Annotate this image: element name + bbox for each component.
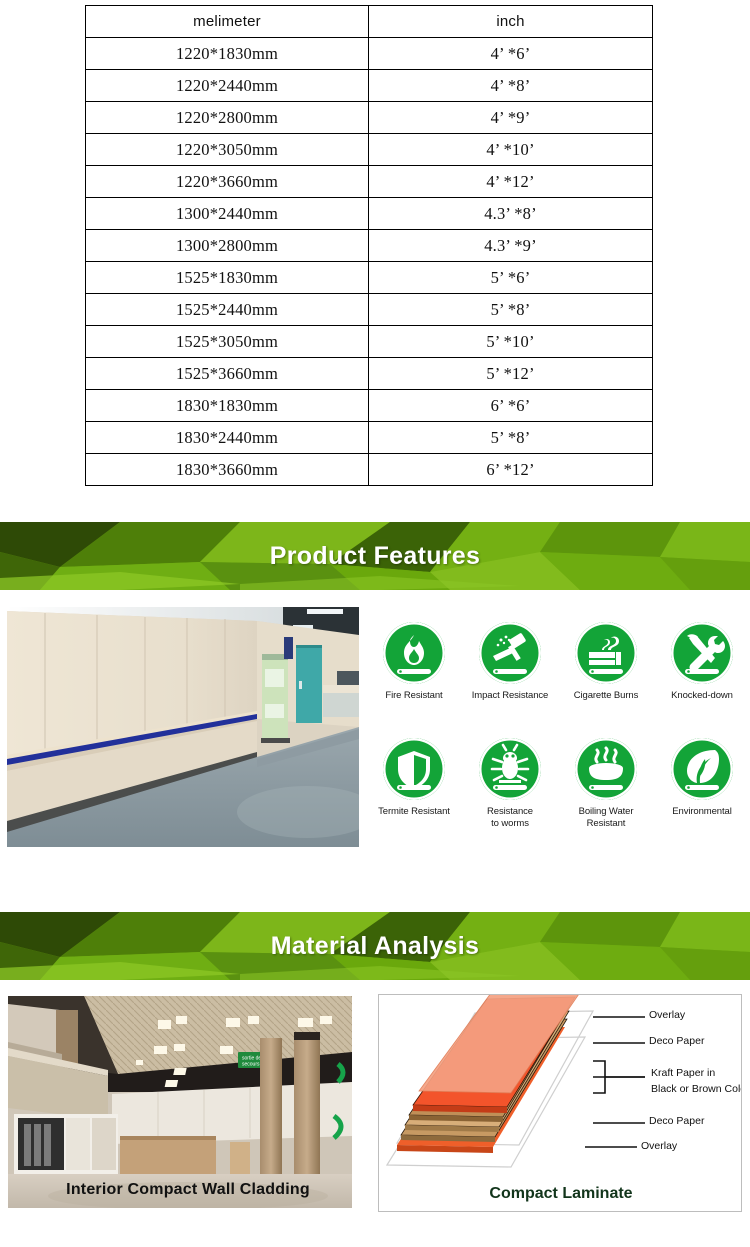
table-row: 1830*3660mm6’ *12’ (86, 454, 653, 486)
cell-melimeter: 1830*3660mm (86, 454, 369, 486)
feature-item-boiling-pot[interactable]: Boiling WaterResistant (558, 738, 654, 829)
table-row: 1525*1830mm5’ *6’ (86, 262, 653, 294)
compact-laminate-panel: Overlay Deco Paper Kraft Paper in Black … (378, 994, 742, 1212)
cell-inch: 5’ *8’ (369, 422, 653, 454)
cigarette-icon (575, 622, 637, 684)
table-header-row: melimeterinch (86, 6, 653, 38)
feature-label-line: Fire Resistant (366, 690, 462, 702)
feature-caption: Environmental (654, 806, 750, 818)
feature-caption: Resistanceto worms (462, 806, 558, 829)
feature-item-bug[interactable]: Resistanceto worms (462, 738, 558, 829)
cell-inch: 4’ *9’ (369, 102, 653, 134)
cell-inch: 4.3’ *8’ (369, 198, 653, 230)
product-features-banner: Product Features (0, 522, 750, 590)
hammer-impact-icon (479, 622, 541, 684)
table-row: 1220*3050mm4’ *10’ (86, 134, 653, 166)
feature-caption: Termite Resistant (366, 806, 462, 818)
feature-label-line: Cigarette Burns (558, 690, 654, 702)
laminate-caption: Compact Laminate (379, 1185, 742, 1203)
cell-melimeter: 1220*2440mm (86, 70, 369, 102)
corridor-photo (7, 607, 359, 847)
column-header-inch: inch (369, 6, 653, 38)
layer-label-overlay-top: Overlay (649, 1009, 685, 1022)
cell-inch: 4’ *10’ (369, 134, 653, 166)
cell-melimeter: 1220*1830mm (86, 38, 369, 70)
cell-melimeter: 1220*3050mm (86, 134, 369, 166)
cell-inch: 4’ *6’ (369, 38, 653, 70)
cell-melimeter: 1300*2800mm (86, 230, 369, 262)
cell-inch: 5’ *10’ (369, 326, 653, 358)
feature-item-hammer-impact[interactable]: Impact Resistance (462, 622, 558, 702)
table-row: 1220*3660mm4’ *12’ (86, 166, 653, 198)
table-row: 1220*1830mm4’ *6’ (86, 38, 653, 70)
feature-caption: Cigarette Burns (558, 690, 654, 702)
product-features-section: Fire ResistantImpact ResistanceCigarette… (0, 600, 750, 872)
product-detail-page: melimeterinch1220*1830mm4’ *6’1220*2440m… (0, 0, 750, 1247)
feature-item-flame[interactable]: Fire Resistant (366, 622, 462, 702)
table-row: 1830*2440mm5’ *8’ (86, 422, 653, 454)
size-specification-table: melimeterinch1220*1830mm4’ *6’1220*2440m… (85, 5, 652, 486)
feature-label-line: Impact Resistance (462, 690, 558, 702)
feature-caption: Knocked-down (654, 690, 750, 702)
table-row: 1830*1830mm6’ *6’ (86, 390, 653, 422)
bug-icon (479, 738, 541, 800)
hammer-wrench-icon (671, 622, 733, 684)
cell-inch: 5’ *8’ (369, 294, 653, 326)
feature-caption: Boiling WaterResistant (558, 806, 654, 829)
cell-inch: 5’ *6’ (369, 262, 653, 294)
interior-photo: sortie de secours (8, 996, 352, 1208)
layer-label-overlay-bottom: Overlay (641, 1140, 677, 1153)
table-row: 1525*3660mm5’ *12’ (86, 358, 653, 390)
cell-melimeter: 1525*2440mm (86, 294, 369, 326)
table-row: 1220*2440mm4’ *8’ (86, 70, 653, 102)
layer-label-kraft-paper-line2: Black or Brown Color (651, 1083, 742, 1096)
cell-inch: 6’ *12’ (369, 454, 653, 486)
feature-label-line: Knocked-down (654, 690, 750, 702)
cell-melimeter: 1525*3050mm (86, 326, 369, 358)
material-analysis-section: sortie de secours (0, 990, 750, 1247)
svg-text:secours: secours (242, 1062, 260, 1068)
feature-icon-grid: Fire ResistantImpact ResistanceCigarette… (366, 600, 750, 868)
corridor-photo-graphic (7, 607, 359, 847)
table-row: 1300*2800mm4.3’ *9’ (86, 230, 653, 262)
cell-melimeter: 1525*1830mm (86, 262, 369, 294)
cell-melimeter: 1220*3660mm (86, 166, 369, 198)
feature-caption: Impact Resistance (462, 690, 558, 702)
layer-label-kraft-paper-line1: Kraft Paper in (651, 1067, 715, 1080)
table-row: 1300*2440mm4.3’ *8’ (86, 198, 653, 230)
cell-inch: 4.3’ *9’ (369, 230, 653, 262)
boiling-pot-icon (575, 738, 637, 800)
size-table: melimeterinch1220*1830mm4’ *6’1220*2440m… (85, 5, 653, 486)
table-row: 1525*2440mm5’ *8’ (86, 294, 653, 326)
layer-label-deco-paper-top: Deco Paper (649, 1035, 704, 1048)
feature-item-hammer-wrench[interactable]: Knocked-down (654, 622, 750, 702)
feature-caption: Fire Resistant (366, 690, 462, 702)
cell-melimeter: 1525*3660mm (86, 358, 369, 390)
interior-photo-caption: Interior Compact Wall Cladding (16, 1181, 352, 1199)
cell-inch: 5’ *12’ (369, 358, 653, 390)
cell-melimeter: 1300*2440mm (86, 198, 369, 230)
cell-inch: 4’ *12’ (369, 166, 653, 198)
table-row: 1525*3050mm5’ *10’ (86, 326, 653, 358)
feature-item-shield[interactable]: Termite Resistant (366, 738, 462, 818)
banner-title-features: Product Features (0, 522, 750, 590)
feature-item-leaf[interactable]: Environmental (654, 738, 750, 818)
layer-label-deco-paper-bottom: Deco Paper (649, 1115, 704, 1128)
cell-melimeter: 1830*2440mm (86, 422, 369, 454)
flame-icon (383, 622, 445, 684)
feature-label-line: Resistant (558, 818, 654, 830)
feature-label-line: to worms (462, 818, 558, 830)
feature-label-line: Termite Resistant (366, 806, 462, 818)
table-row: 1220*2800mm4’ *9’ (86, 102, 653, 134)
interior-photo-graphic: sortie de secours (8, 996, 352, 1208)
cell-inch: 6’ *6’ (369, 390, 653, 422)
banner-title-material: Material Analysis (0, 912, 750, 980)
feature-label-line: Resistance (462, 806, 558, 818)
column-header-melimeter: melimeter (86, 6, 369, 38)
feature-label-line: Environmental (654, 806, 750, 818)
cell-inch: 4’ *8’ (369, 70, 653, 102)
cell-melimeter: 1830*1830mm (86, 390, 369, 422)
material-analysis-banner: Material Analysis (0, 912, 750, 980)
cell-melimeter: 1220*2800mm (86, 102, 369, 134)
leaf-icon (671, 738, 733, 800)
shield-icon (383, 738, 445, 800)
feature-label-line: Boiling Water (558, 806, 654, 818)
feature-item-cigarette[interactable]: Cigarette Burns (558, 622, 654, 702)
